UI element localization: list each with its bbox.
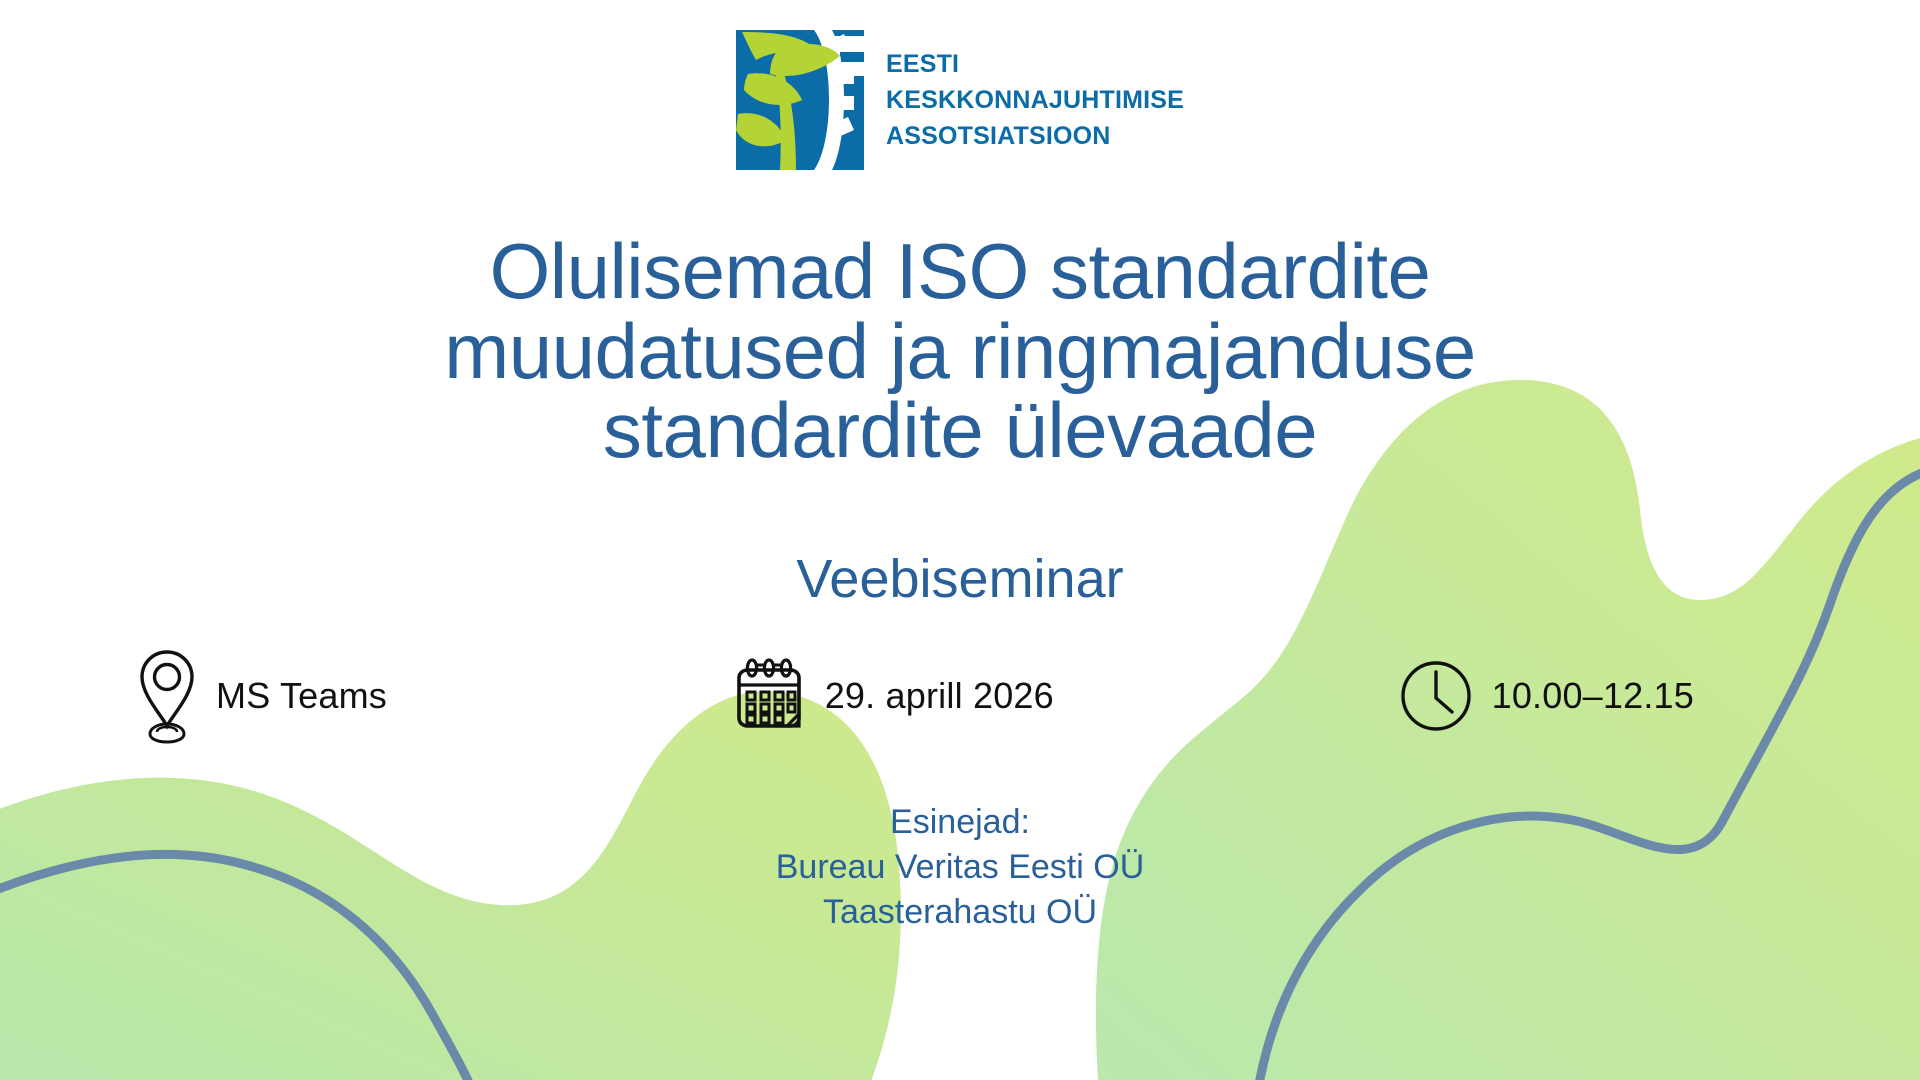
- speaker-item: Taasterahastu OÜ: [776, 890, 1145, 935]
- venue-label: MS Teams: [216, 675, 387, 717]
- time-label: 10.00–12.15: [1492, 675, 1694, 717]
- event-details-row: MS Teams: [0, 648, 1920, 744]
- event-venue: MS Teams: [136, 648, 387, 744]
- location-pin-icon: [136, 648, 198, 744]
- clock-icon: [1398, 658, 1474, 734]
- event-type-subtitle: Veebiseminar: [796, 548, 1123, 610]
- logo-line-1: EESTI: [886, 48, 1184, 80]
- organization-logo: EESTI KESKKONNAJUHTIMISE ASSOTSIATSIOON: [0, 30, 1920, 170]
- logo-line-2: KESKKONNAJUHTIMISE: [886, 84, 1184, 116]
- calendar-icon: [731, 658, 807, 734]
- date-label: 29. aprill 2026: [825, 675, 1054, 717]
- poster-content: EESTI KESKKONNAJUHTIMISE ASSOTSIATSIOON …: [0, 0, 1920, 1080]
- event-date: 29. aprill 2026: [731, 658, 1054, 734]
- page-title: Olulisemad ISO standardite muudatused ja…: [290, 232, 1630, 471]
- event-time: 10.00–12.15: [1398, 658, 1694, 734]
- speakers-block: Esinejad: Bureau Veritas Eesti OÜ Taaste…: [776, 800, 1145, 936]
- speakers-heading: Esinejad:: [776, 800, 1145, 845]
- title-line-3: standardite ülevaade: [290, 391, 1630, 471]
- eka-leaf-gear-logo-icon: [736, 30, 864, 170]
- logo-wordmark: EESTI KESKKONNAJUHTIMISE ASSOTSIATSIOON: [886, 48, 1184, 152]
- speaker-item: Bureau Veritas Eesti OÜ: [776, 845, 1145, 890]
- title-line-2: muudatused ja ringmajanduse: [290, 312, 1630, 392]
- logo-line-3: ASSOTSIATSIOON: [886, 120, 1184, 152]
- title-line-1: Olulisemad ISO standardite: [290, 232, 1630, 312]
